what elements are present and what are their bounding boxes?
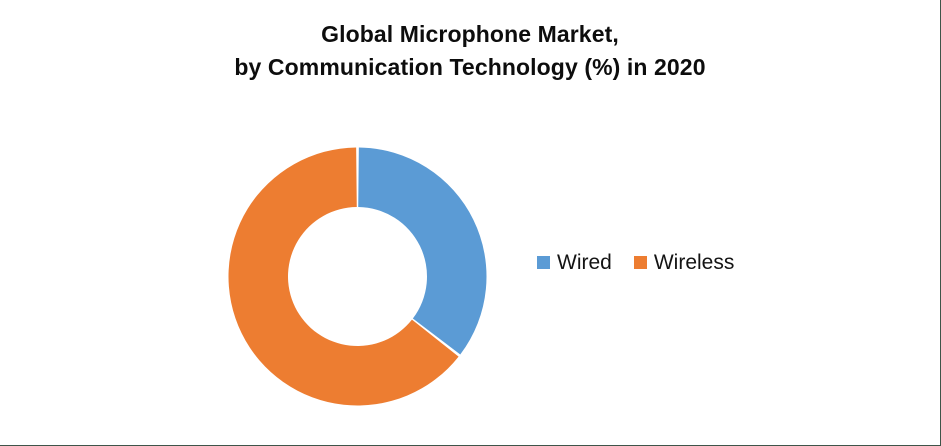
legend-entry-wired[interactable]: Wired [537,252,612,273]
donut-chart-svg [228,147,487,406]
chart-title-line-2: by Communication Technology (%) in 2020 [150,51,790,84]
donut-slice-layer [228,148,486,406]
chart-legend: WiredWireless [537,252,734,273]
legend-swatch-square-icon [634,256,647,269]
legend-label: Wired [557,252,612,273]
donut-slice-wired[interactable] [358,148,486,355]
chart-figure: Global Microphone Market, by Communicati… [0,0,941,446]
donut-chart-plot-area [228,147,487,406]
legend-entry-wireless[interactable]: Wireless [634,252,735,273]
chart-title: Global Microphone Market, by Communicati… [150,18,790,83]
chart-title-line-1: Global Microphone Market, [150,18,790,51]
legend-label: Wireless [654,252,735,273]
legend-swatch-square-icon [537,256,550,269]
